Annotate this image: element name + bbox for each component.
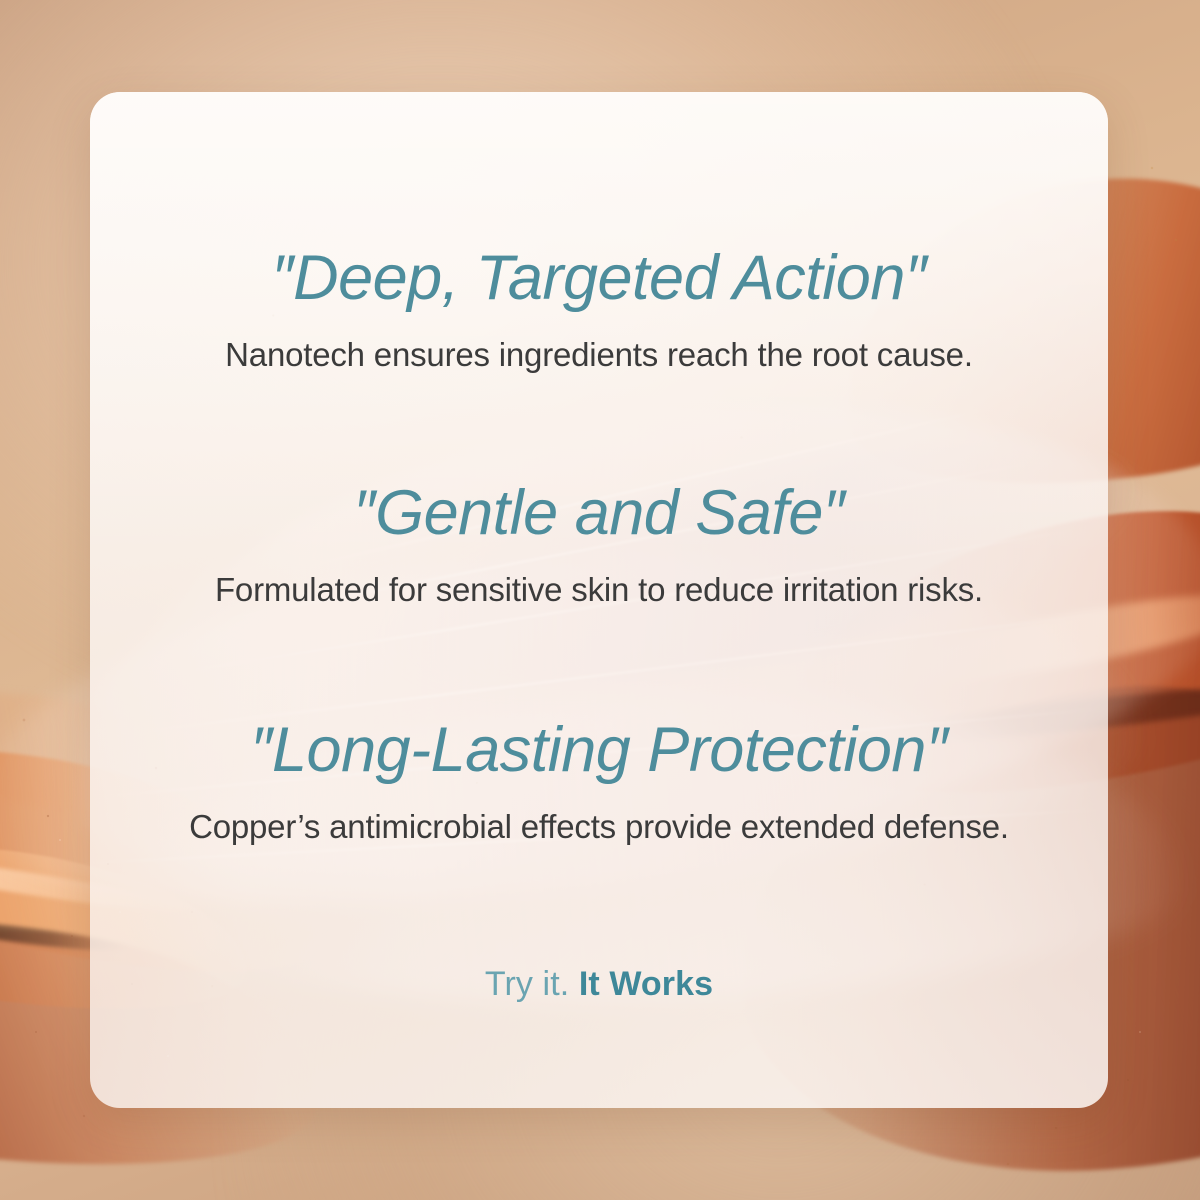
benefit-block-1: ″Deep, Targeted Action″ Nanotech ensures… <box>90 244 1108 377</box>
promo-poster: ″Deep, Targeted Action″ Nanotech ensures… <box>0 0 1200 1200</box>
content-card: ″Deep, Targeted Action″ Nanotech ensures… <box>90 92 1108 1108</box>
benefit-headline-1: ″Deep, Targeted Action″ <box>90 244 1108 312</box>
call-to-action[interactable]: Try it. It Works <box>485 965 713 1004</box>
benefit-headline-3: ″Long-Lasting Protection″ <box>90 716 1108 784</box>
benefit-subline-3: Copper’s antimicrobial effects provide e… <box>90 806 1108 849</box>
benefit-headline-2: ″Gentle and Safe″ <box>90 479 1108 547</box>
card-content: ″Deep, Targeted Action″ Nanotech ensures… <box>90 92 1108 1108</box>
cta-strong-text: It Works <box>579 965 713 1003</box>
cta-spacer <box>569 965 579 1003</box>
cta-lead-text: Try it. <box>485 965 569 1003</box>
benefit-subline-2: Formulated for sensitive skin to reduce … <box>90 569 1108 612</box>
benefit-block-3: ″Long-Lasting Protection″ Copper’s antim… <box>90 716 1108 849</box>
benefit-subline-1: Nanotech ensures ingredients reach the r… <box>90 334 1108 377</box>
benefit-block-2: ″Gentle and Safe″ Formulated for sensiti… <box>90 479 1108 612</box>
